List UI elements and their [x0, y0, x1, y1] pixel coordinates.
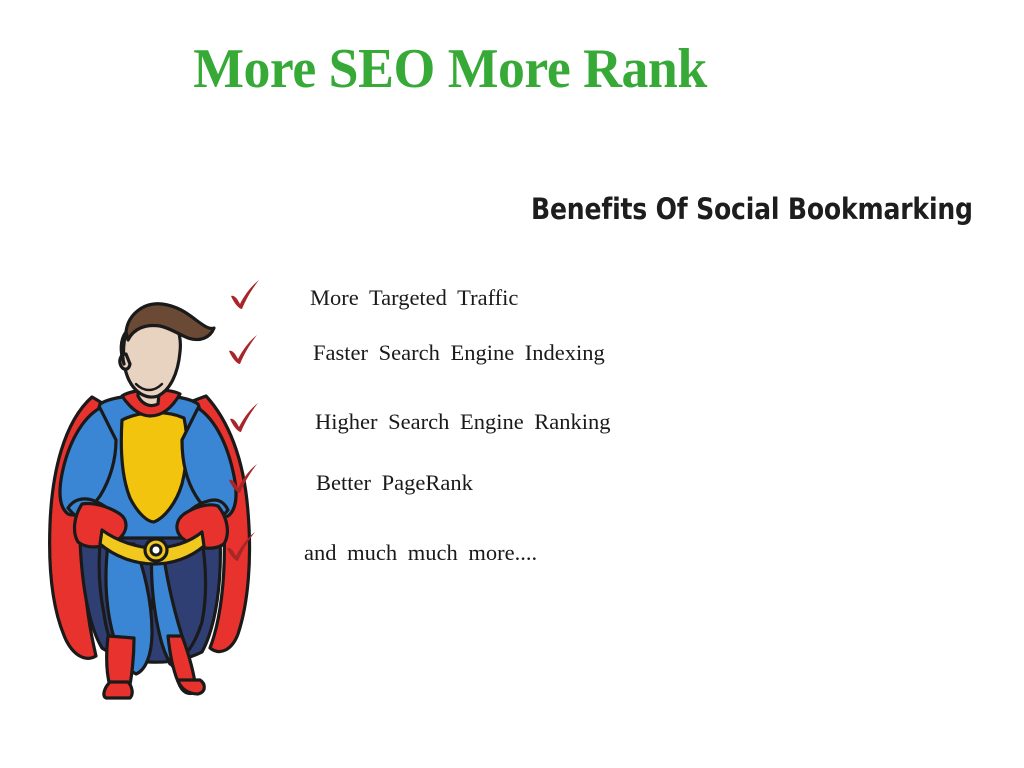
- check-icon: [226, 333, 260, 367]
- check-icon: [227, 401, 261, 435]
- list-item-label: Faster Search Engine Indexing: [313, 340, 605, 366]
- list-item-label: Higher Search Engine Ranking: [315, 409, 611, 435]
- list-item-label: and much much more....: [304, 540, 537, 566]
- benefits-heading: Benefits Of Social Bookmarking: [531, 193, 973, 228]
- page-title: More SEO More Rank: [18, 38, 882, 100]
- list-item-label: Better PageRank: [316, 470, 473, 496]
- check-icon: [226, 462, 260, 496]
- check-icon: [224, 530, 258, 564]
- check-icon: [228, 278, 262, 312]
- list-item-label: More Targeted Traffic: [310, 285, 518, 311]
- slide-canvas: More SEO More Rank: [0, 0, 1024, 768]
